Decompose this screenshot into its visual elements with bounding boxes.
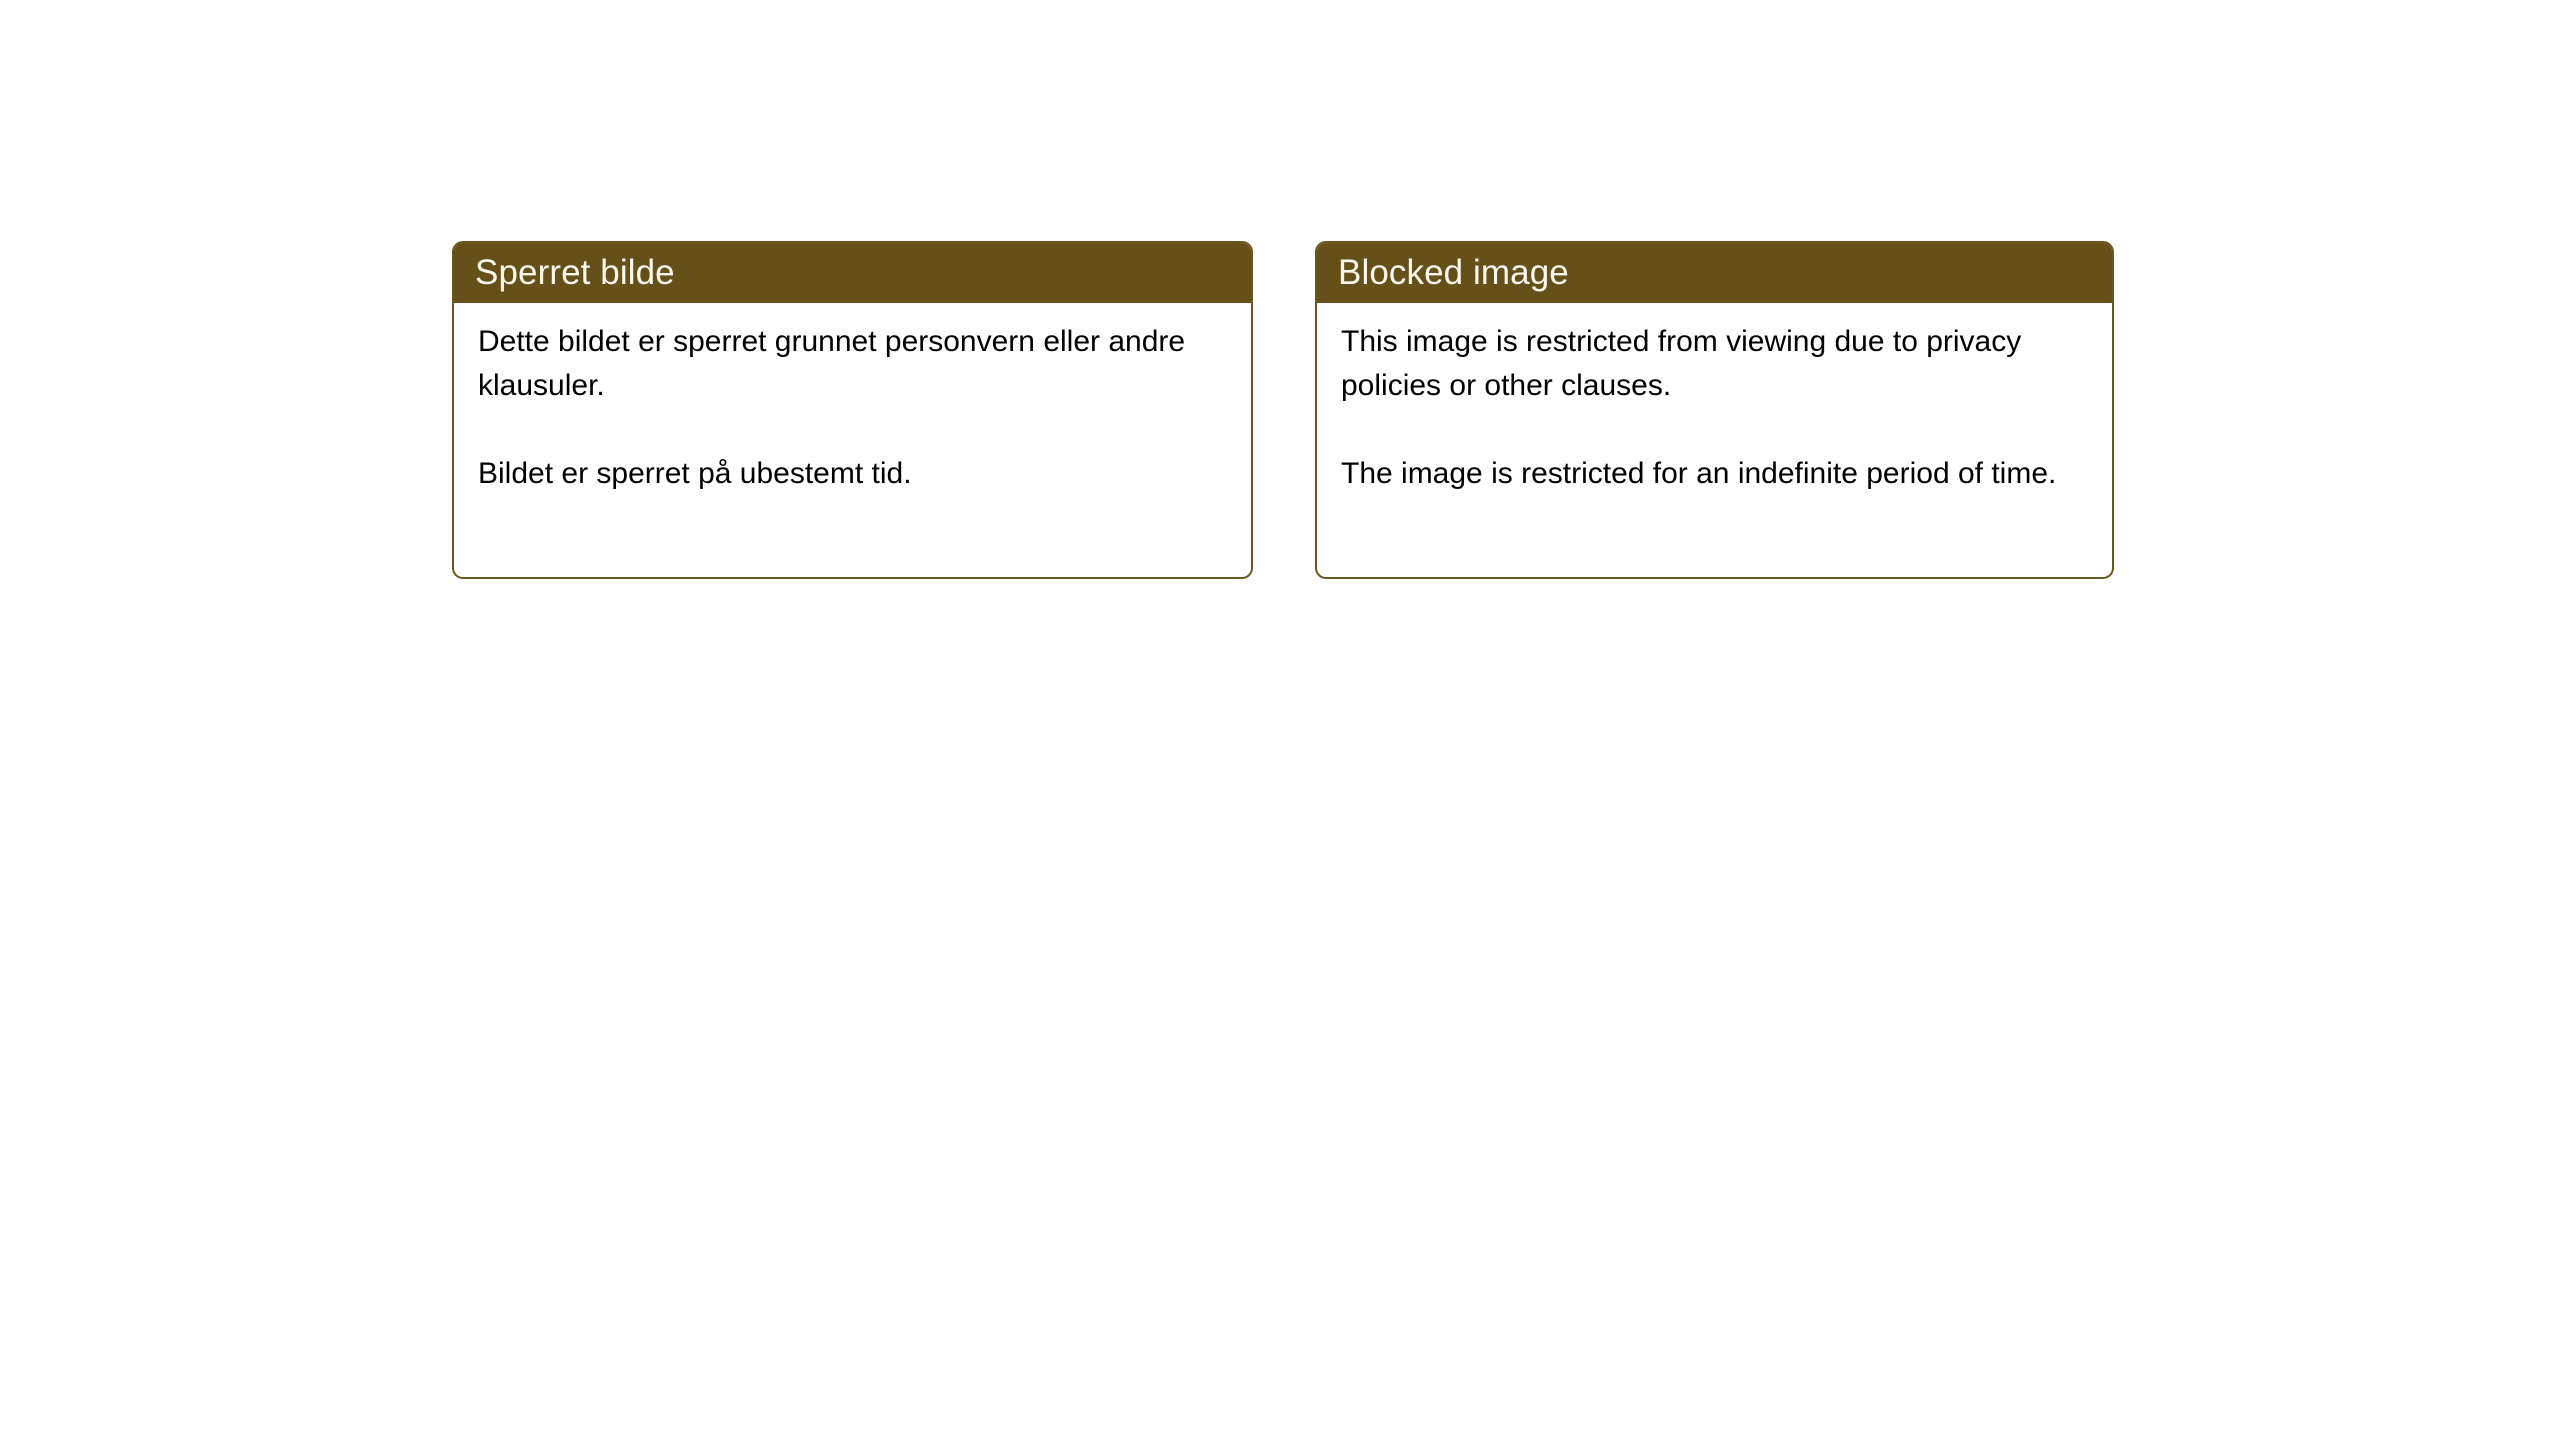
card-paragraph-duration-norwegian: Bildet er sperret på ubestemt tid. [478,452,1229,496]
card-header-english: Blocked image [1316,242,2113,303]
blocked-image-notice-card-english: Blocked image This image is restricted f… [1315,241,2114,579]
card-title-english: Blocked image [1338,253,1569,293]
card-header-norwegian: Sperret bilde [453,242,1252,303]
page-canvas: Sperret bilde Dette bildet er sperret gr… [0,0,2560,1440]
card-paragraph-reason-norwegian: Dette bildet er sperret grunnet personve… [478,320,1229,408]
card-body-norwegian: Dette bildet er sperret grunnet personve… [454,303,1251,496]
card-body-english: This image is restricted from viewing du… [1317,303,2112,496]
card-paragraph-reason-english: This image is restricted from viewing du… [1341,320,2090,408]
card-title-norwegian: Sperret bilde [475,253,675,293]
blocked-image-notice-card-norwegian: Sperret bilde Dette bildet er sperret gr… [452,241,1253,579]
card-paragraph-duration-english: The image is restricted for an indefinit… [1341,452,2090,496]
